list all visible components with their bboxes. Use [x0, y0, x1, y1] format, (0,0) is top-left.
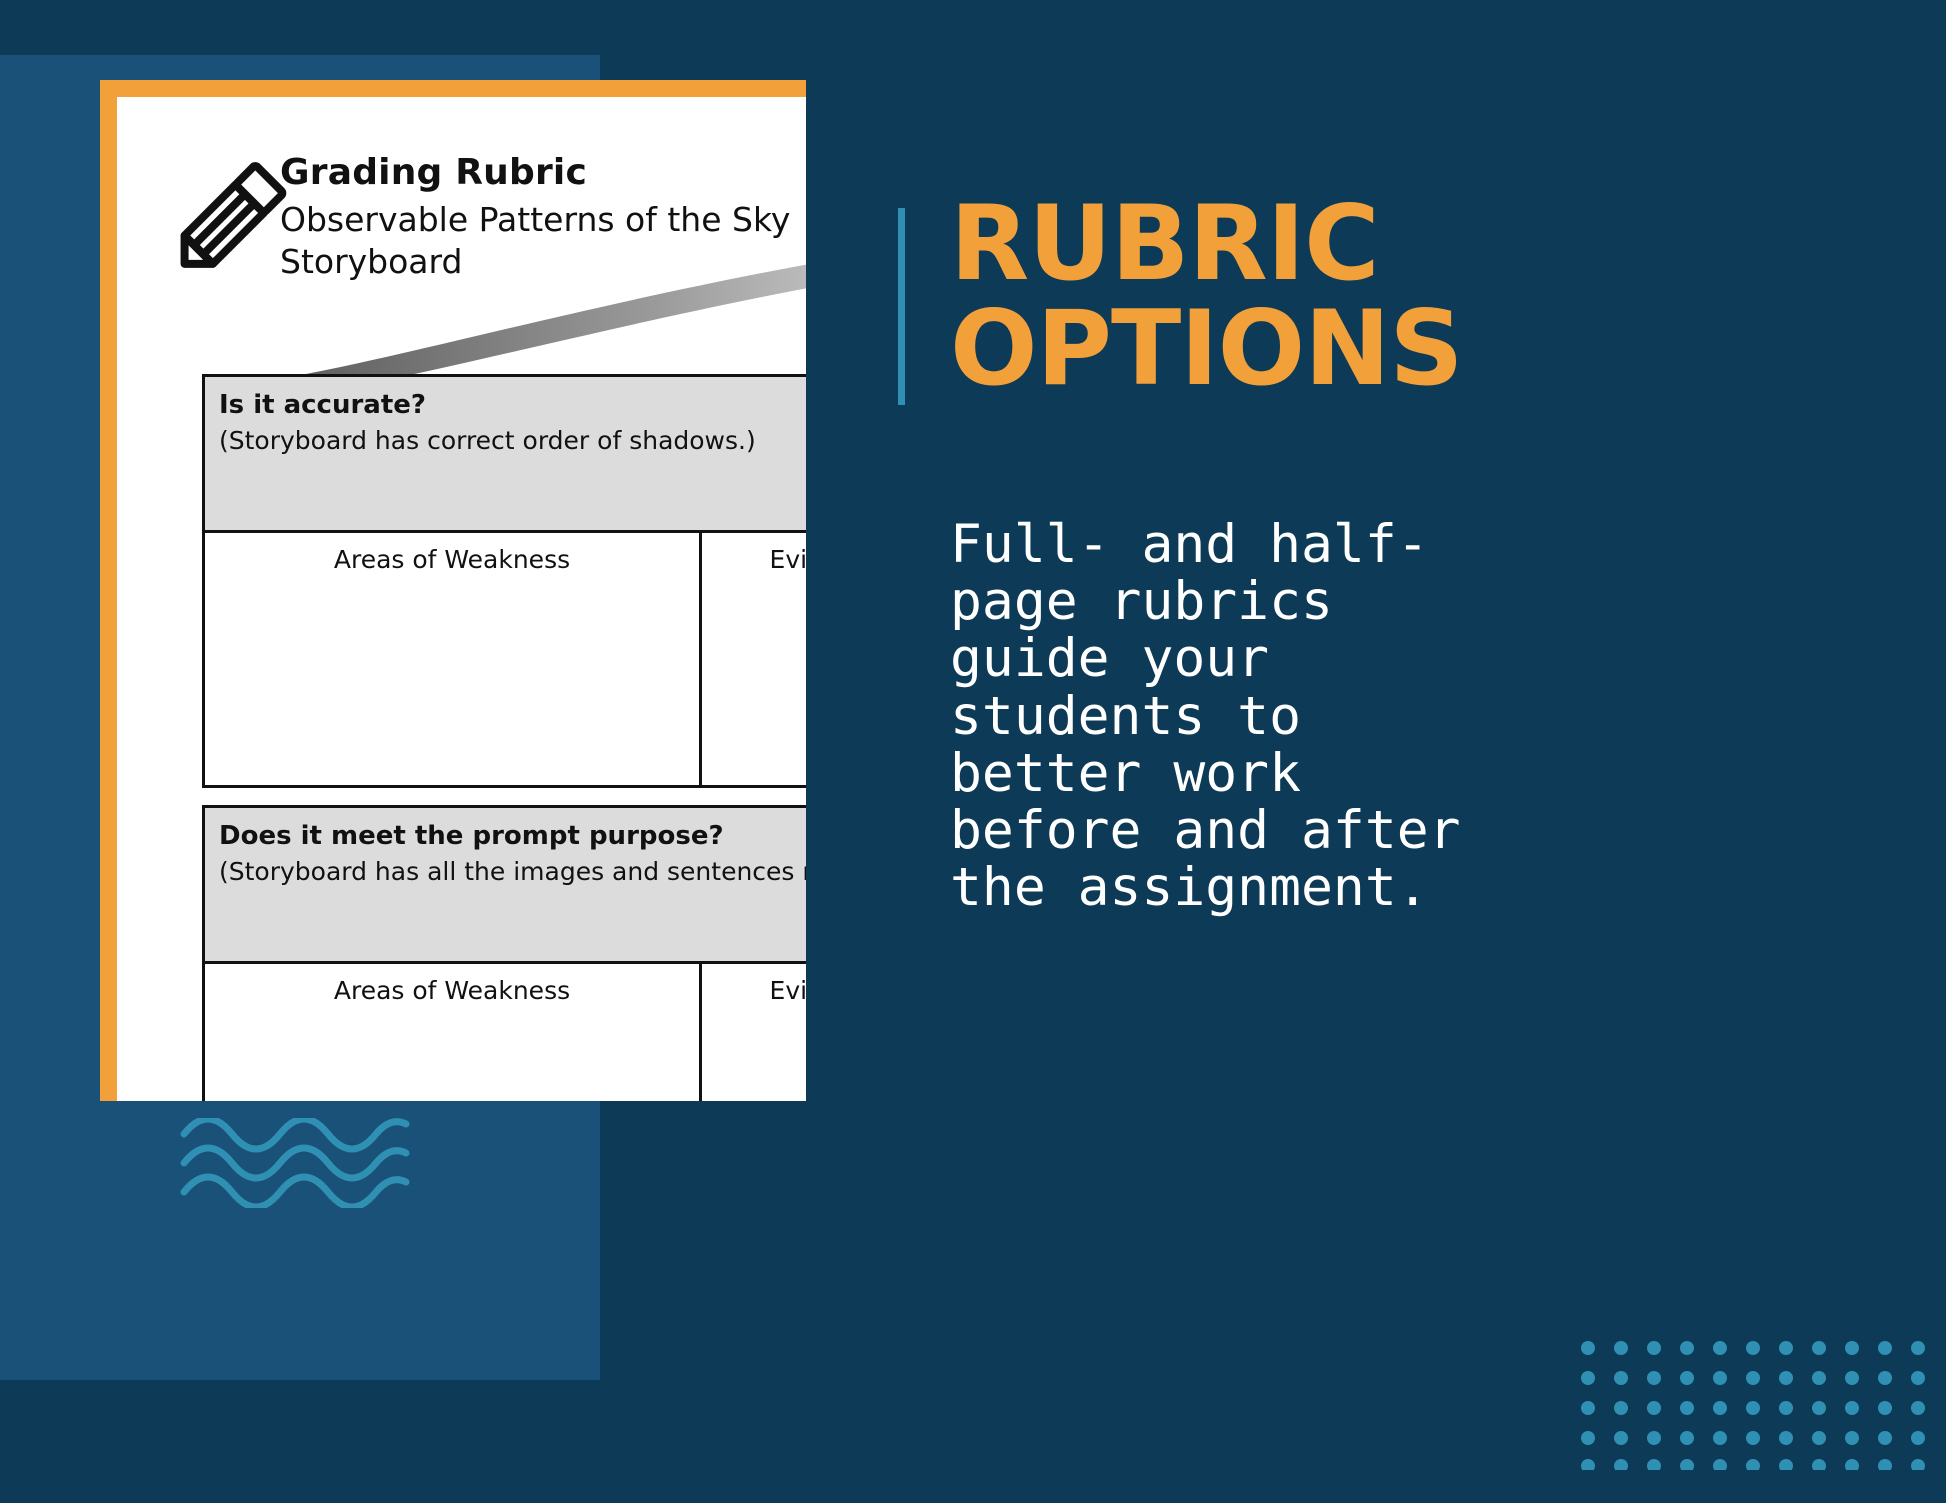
rubric-column-strength[interactable]: Evidence of Strength — [702, 533, 806, 788]
rubric-column-label: Areas of Weakness — [334, 545, 570, 574]
dot-grid-decoration — [1580, 1340, 1946, 1470]
page-title: RUBRIC OPTIONS — [950, 192, 1900, 402]
rubric-column-label: Areas of Weakness — [334, 976, 570, 1005]
rubric-section-note: (Storyboard has correct order of shadows… — [219, 426, 806, 455]
rubric-section-heading: Does it meet the prompt purpose? — [219, 821, 806, 851]
wavy-lines-decoration — [180, 1118, 420, 1208]
document-header: Grading Rubric Observable Patterns of th… — [117, 97, 806, 397]
headline-accent-bar — [898, 208, 905, 405]
rubric-section: Does it meet the prompt purpose? (Storyb… — [202, 805, 806, 1101]
rubric-section-heading: Is it accurate? — [219, 390, 806, 420]
rubric-column-label: Evidence of Strength — [770, 976, 806, 1005]
pencil-icon — [162, 155, 292, 285]
rubric-section: Is it accurate? (Storyboard has correct … — [202, 374, 806, 788]
rubric-section-header: Is it accurate? (Storyboard has correct … — [202, 374, 806, 533]
rubric-column-strength[interactable]: Evidence of Strength — [702, 964, 806, 1101]
rubric-column-weakness[interactable]: Areas of Weakness — [202, 533, 702, 788]
document-subtitle: Observable Patterns of the Sky Storyboar… — [280, 199, 806, 283]
rubric-section-note: (Storyboard has all the images and sente… — [219, 857, 806, 886]
rubric-column-label: Evidence of Strength — [770, 545, 806, 574]
rubric-section-header: Does it meet the prompt purpose? (Storyb… — [202, 805, 806, 964]
rubric-section-columns: Areas of Weakness Evidence of Strength — [202, 964, 806, 1101]
rubric-document-page: Grading Rubric Observable Patterns of th… — [117, 97, 806, 1101]
document-title: Grading Rubric — [280, 152, 806, 193]
rubric-column-weakness[interactable]: Areas of Weakness — [202, 964, 702, 1101]
rubric-section-columns: Areas of Weakness Evidence of Strength — [202, 533, 806, 788]
body-paragraph: Full- and half-page rubrics guide your s… — [950, 516, 1510, 917]
